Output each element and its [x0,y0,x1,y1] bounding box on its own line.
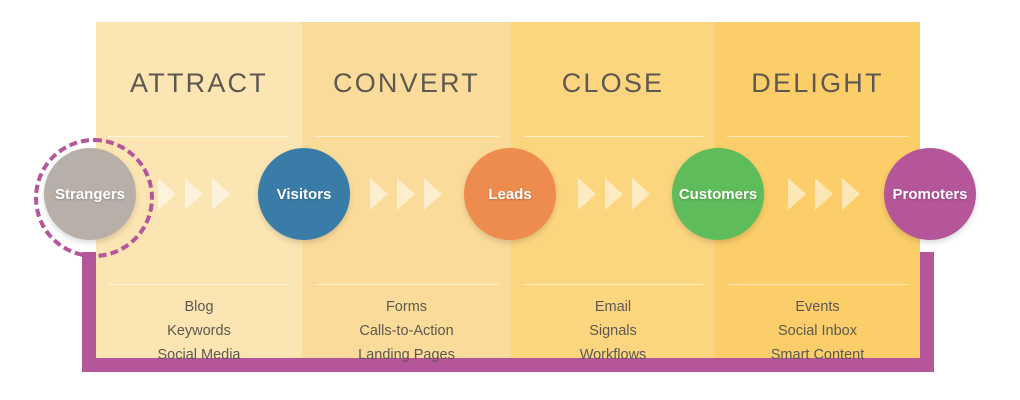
tool-item: Workflows [511,343,715,367]
node-label: Customers [679,186,757,203]
stage-tools-delight: Events Social Inbox Smart Content [715,295,920,367]
divider-bottom-close [523,284,703,285]
node-leads[interactable]: Leads [464,148,556,240]
tool-item: Calls-to-Action [302,319,511,343]
divider-bottom-attract [108,284,290,285]
frame-left-edge [82,252,96,372]
arrow-group-leads-to-customers [578,178,650,210]
tool-item: Social Media [96,343,302,367]
stage-tools-convert: Forms Calls-to-Action Landing Pages [302,295,511,367]
inbound-methodology-diagram: ATTRACT Blog Keywords Social Media CONVE… [0,0,1020,400]
chevron-right-icon [397,178,415,210]
chevron-right-icon [842,178,860,210]
chevron-right-icon [158,178,176,210]
divider-bottom-delight [727,284,908,285]
tool-item: Blog [96,295,302,319]
stage-tools-attract: Blog Keywords Social Media [96,295,302,367]
node-label: Promoters [892,186,967,203]
stage-title-convert: CONVERT [302,68,511,99]
tool-item: Signals [511,319,715,343]
divider-top-attract [108,136,290,137]
node-promoters[interactable]: Promoters [884,148,976,240]
stage-title-delight: DELIGHT [715,68,920,99]
chevron-right-icon [632,178,650,210]
tool-item: Landing Pages [302,343,511,367]
chevron-right-icon [185,178,203,210]
node-visitors[interactable]: Visitors [258,148,350,240]
node-label: Visitors [277,186,332,203]
chevron-right-icon [370,178,388,210]
stage-title-attract: ATTRACT [96,68,302,99]
tool-item: Keywords [96,319,302,343]
frame-right-edge [920,252,934,372]
tool-item: Smart Content [715,343,920,367]
divider-top-convert [314,136,499,137]
node-strangers[interactable]: Strangers [44,148,136,240]
chevron-right-icon [212,178,230,210]
tool-item: Events [715,295,920,319]
divider-top-close [523,136,703,137]
arrow-group-customers-to-promoters [788,178,860,210]
stage-title-close: CLOSE [511,68,715,99]
stage-tools-close: Email Signals Workflows [511,295,715,367]
arrow-group-strangers-to-visitors [158,178,230,210]
chevron-right-icon [815,178,833,210]
tool-item: Forms [302,295,511,319]
divider-bottom-convert [314,284,499,285]
tool-item: Social Inbox [715,319,920,343]
chevron-right-icon [605,178,623,210]
chevron-right-icon [424,178,442,210]
tool-item: Email [511,295,715,319]
divider-top-delight [727,136,908,137]
node-customers[interactable]: Customers [672,148,764,240]
node-label: Leads [488,186,531,203]
chevron-right-icon [578,178,596,210]
node-label: Strangers [55,186,125,203]
arrow-group-visitors-to-leads [370,178,442,210]
chevron-right-icon [788,178,806,210]
